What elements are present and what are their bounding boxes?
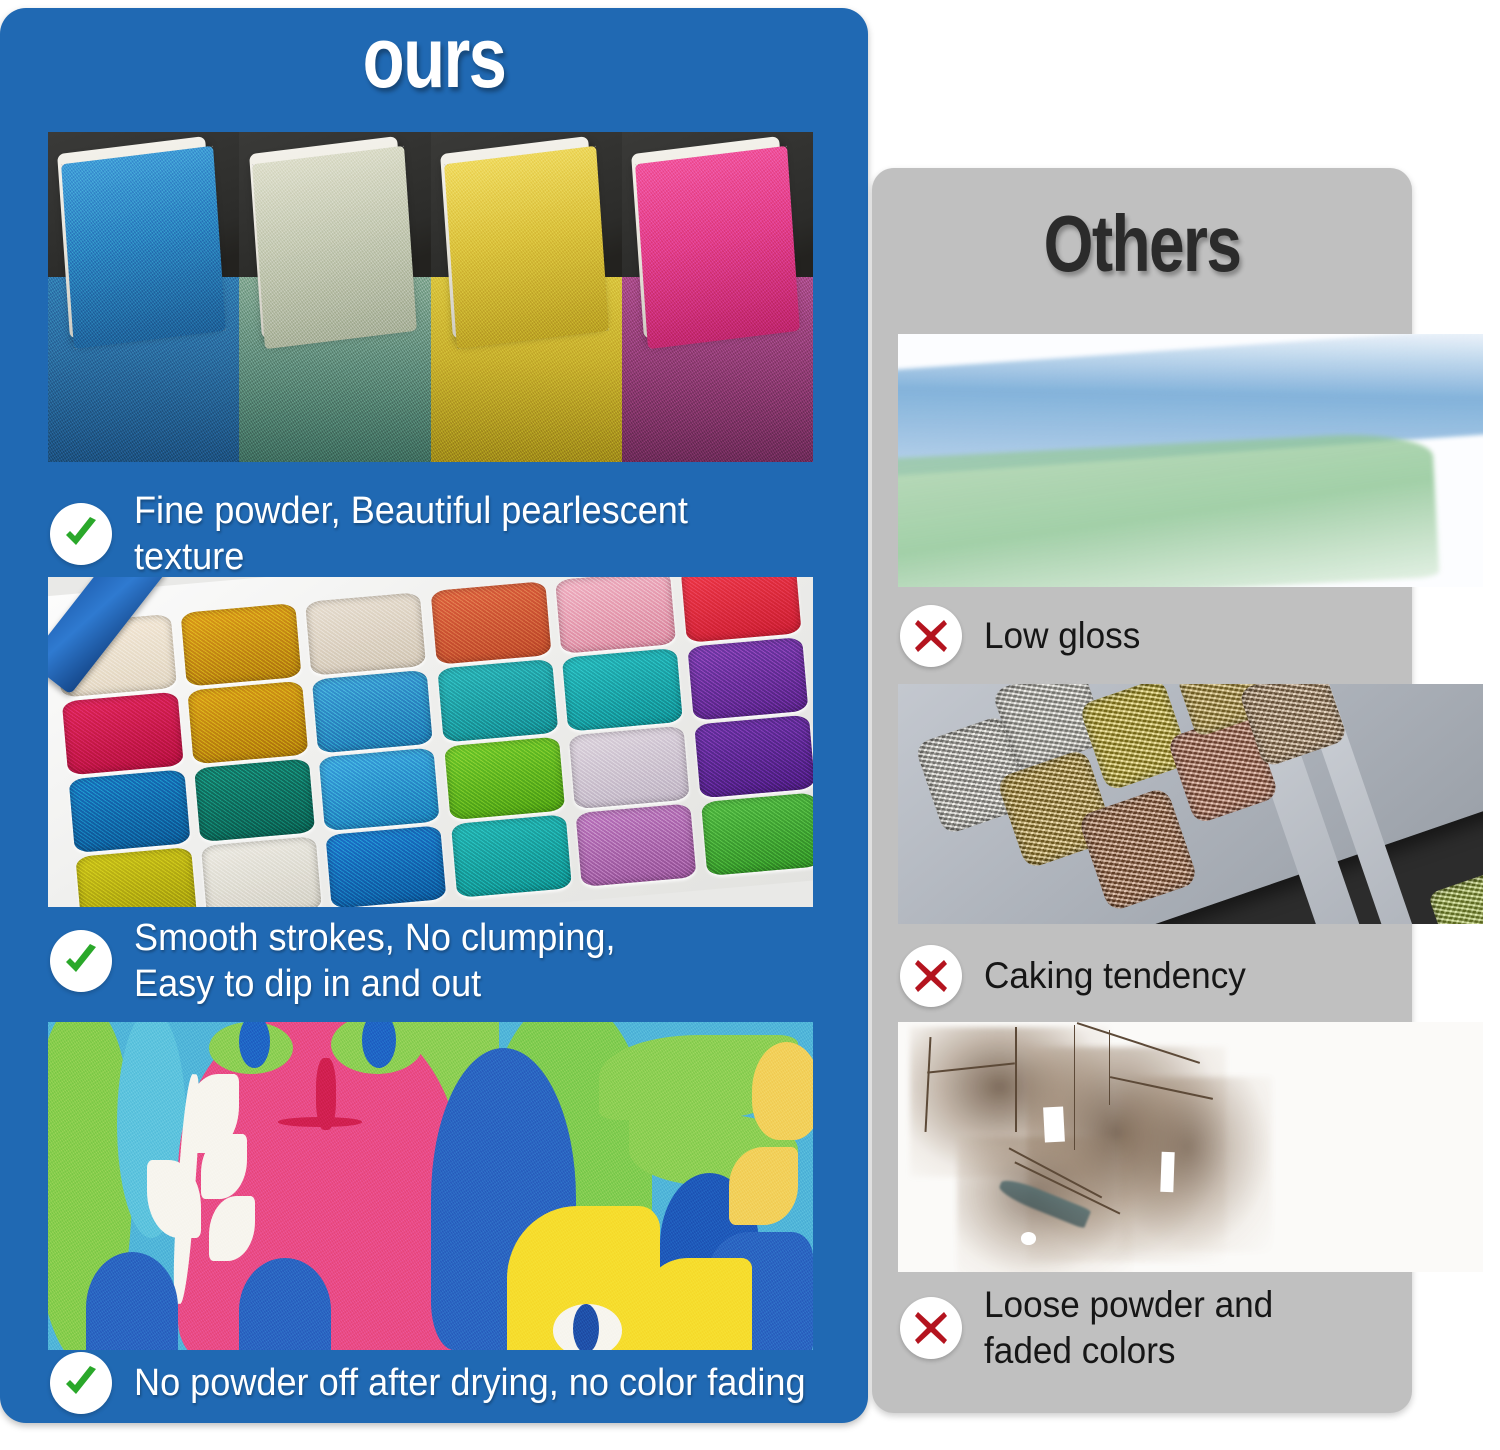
check-icon	[50, 1352, 112, 1414]
pan-strip-blue	[48, 132, 239, 462]
pale-watercolor-wash-photo	[898, 334, 1483, 587]
others-title: Others	[926, 198, 1358, 290]
ours-title: ours	[87, 10, 781, 106]
ours-feature-row-2: Smooth strokes, No clumping, Easy to dip…	[50, 915, 840, 1007]
check-icon	[50, 930, 112, 992]
others-feature-label-1: Low gloss	[984, 613, 1140, 659]
ours-feature-row-1: Fine powder, Beautiful pearlescent textu…	[50, 488, 840, 580]
cross-icon	[900, 945, 962, 1007]
ours-feature-row-3: No powder off after drying, no color fad…	[50, 1352, 850, 1414]
abstract-artwork-photo	[48, 1022, 813, 1350]
pan-strip-gold	[431, 132, 622, 462]
others-feature-row-2: Caking tendency	[900, 945, 1460, 1007]
faded-sepia-sketch-photo	[898, 1022, 1483, 1272]
cross-icon	[900, 605, 962, 667]
pan-strip-pink	[622, 132, 813, 462]
others-feature-label-2: Caking tendency	[984, 953, 1246, 999]
check-icon	[50, 503, 112, 565]
others-feature-row-1: Low gloss	[900, 605, 1460, 667]
palette-with-brush-photo	[48, 577, 813, 907]
cross-icon	[900, 1297, 962, 1359]
metallic-powder-pans-photo	[48, 132, 813, 462]
ours-feature-label-2: Smooth strokes, No clumping, Easy to dip…	[134, 915, 616, 1007]
caked-paint-tray-photo	[898, 684, 1483, 924]
pan-strip-silver	[239, 132, 430, 462]
others-feature-row-3: Loose powder and faded colors	[900, 1282, 1460, 1374]
ours-feature-label-1: Fine powder, Beautiful pearlescent textu…	[134, 488, 805, 580]
comparison-infographic: ours	[0, 0, 1500, 1450]
others-feature-label-3: Loose powder and faded colors	[984, 1282, 1273, 1374]
ours-feature-label-3: No powder off after drying, no color fad…	[134, 1360, 806, 1406]
